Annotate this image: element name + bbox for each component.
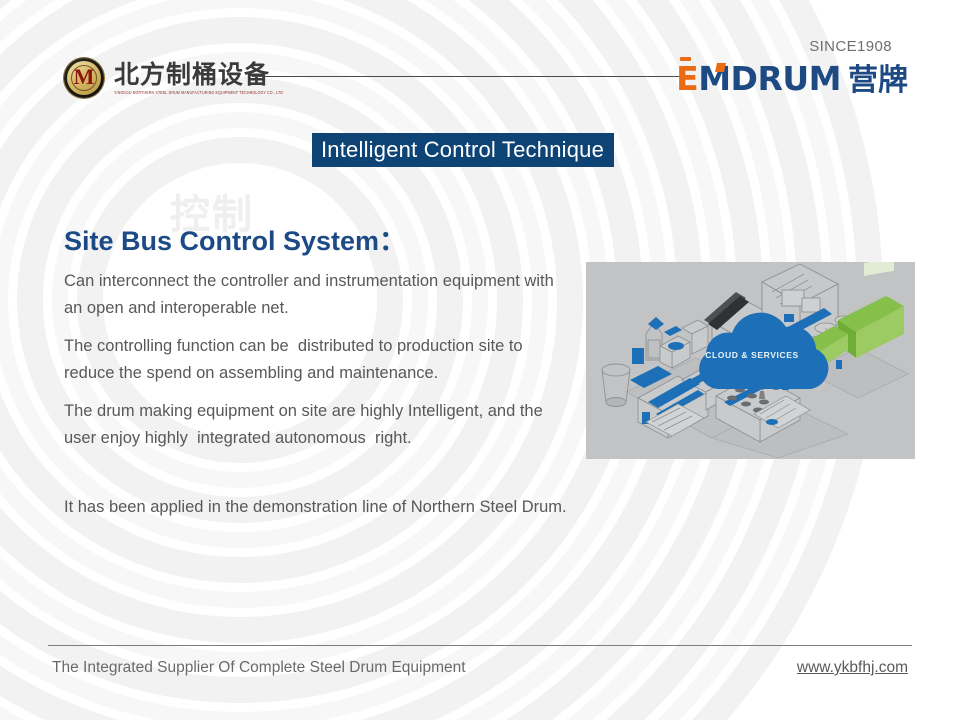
industrial-iot-illustration: CLOUD & SERVICES [586, 262, 915, 459]
svg-text:CLOUD & SERVICES: CLOUD & SERVICES [705, 350, 799, 360]
since-label: SINCE1908 [809, 38, 892, 55]
company-logo-left: M 北方制桶设备 YINGKOU NORTHERN STEEL DRUM MAN… [64, 58, 283, 98]
body-paragraph: The drum making equipment on site are hi… [64, 398, 574, 452]
slide-root: M 北方制桶设备 YINGKOU NORTHERN STEEL DRUM MAN… [0, 0, 960, 720]
body-paragraph: It has been applied in the demonstration… [64, 494, 574, 521]
emdrum-initial: E [676, 62, 698, 95]
body-text-column: Can interconnect the controller and inst… [64, 268, 574, 532]
section-title-text: Intelligent Control Technique [321, 137, 604, 163]
slide-header: M 北方制桶设备 YINGKOU NORTHERN STEEL DRUM MAN… [0, 0, 960, 112]
logo-name-en: YINGKOU NORTHERN STEEL DRUM MANUFACTURIN… [114, 90, 283, 95]
company-logo-right: E MDRUM 营牌 [676, 62, 908, 96]
page-title: Site Bus Control System： [64, 219, 406, 258]
logo-left-text: 北方制桶设备 YINGKOU NORTHERN STEEL DRUM MANUF… [114, 62, 283, 94]
logo-name-cn: 北方制桶设备 [114, 62, 283, 88]
footer-tagline: The Integrated Supplier Of Complete Stee… [52, 659, 466, 677]
logo-badge-letter: M [64, 58, 104, 98]
footer-divider [48, 645, 912, 646]
illustration-canvas: CLOUD & SERVICES [586, 262, 915, 459]
body-paragraph: Can interconnect the controller and inst… [64, 268, 574, 322]
footer-website-link[interactable]: www.ykbfhj.com [797, 659, 908, 677]
body-paragraph: The controlling function can be distribu… [64, 333, 574, 387]
emdrum-wordmark-cn: 营牌 [848, 66, 908, 96]
section-title-banner: Intelligent Control Technique [312, 133, 614, 167]
logo-badge-icon: M [64, 58, 104, 98]
emdrum-wordmark: MDRUM [698, 62, 841, 95]
header-divider [252, 76, 688, 77]
